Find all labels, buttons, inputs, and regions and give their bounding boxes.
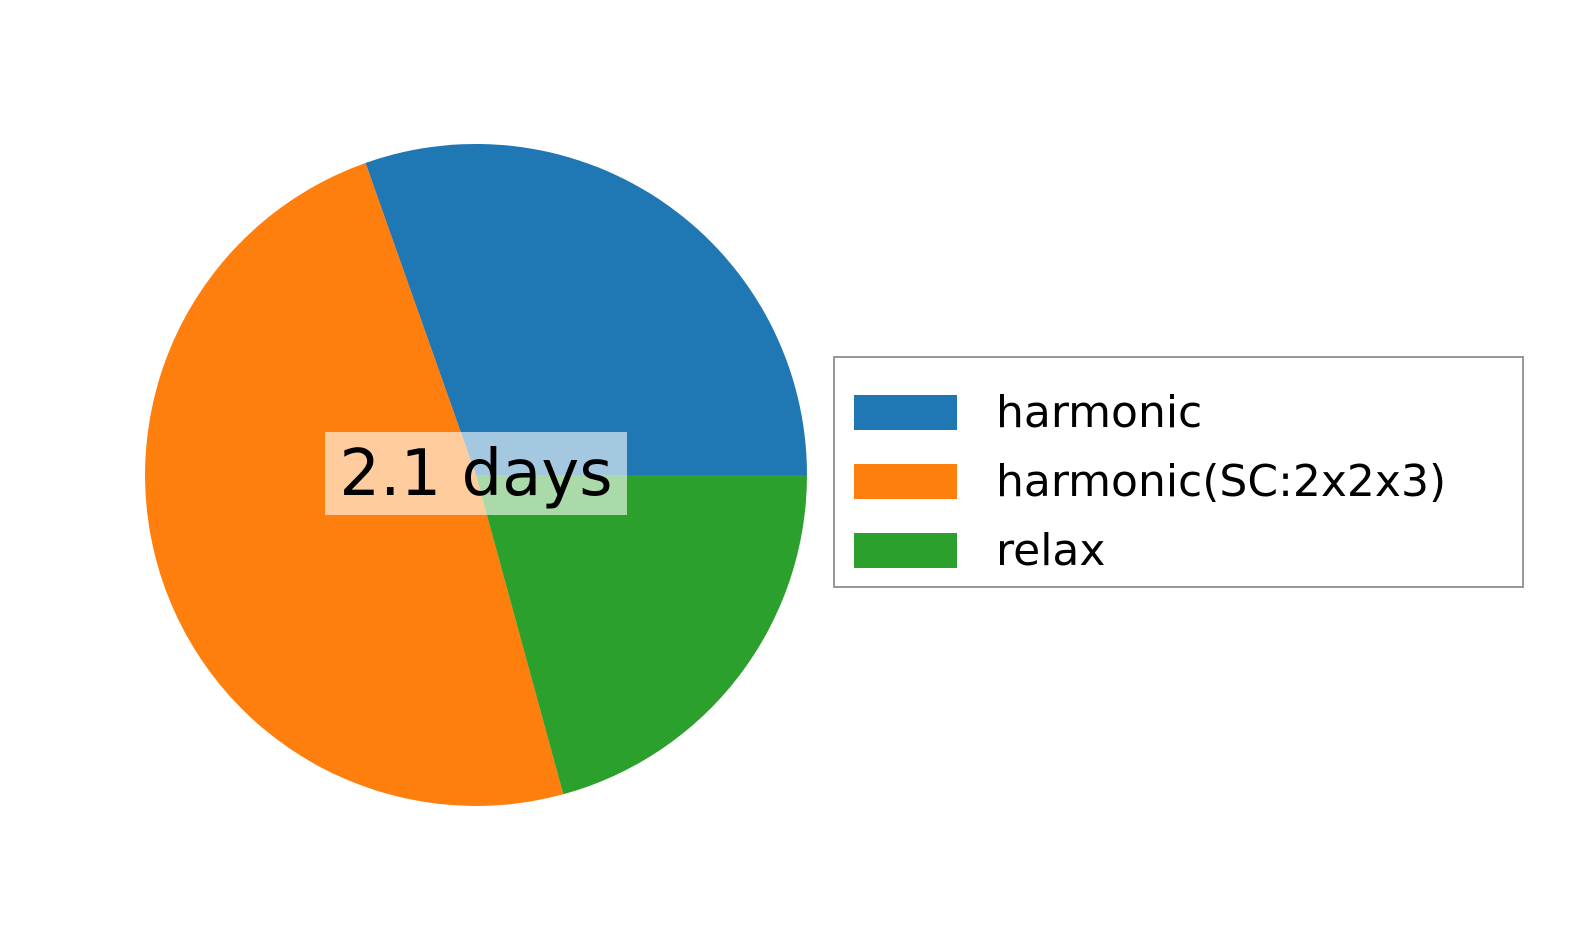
legend-label-harmonic-sc: harmonic(SC:2x2x3) bbox=[996, 460, 1446, 504]
legend-label-harmonic: harmonic bbox=[996, 391, 1202, 435]
pie-center-label: 2.1 days bbox=[325, 432, 627, 515]
legend-label-relax: relax bbox=[996, 529, 1105, 573]
legend-item-relax[interactable]: relax bbox=[854, 516, 1522, 585]
pie-chart-figure: 2.1 days harmonic harmonic(SC:2x2x3) rel… bbox=[0, 0, 1584, 951]
legend-swatch-relax bbox=[854, 533, 957, 568]
legend-item-harmonic[interactable]: harmonic bbox=[854, 378, 1522, 447]
chart-legend: harmonic harmonic(SC:2x2x3) relax bbox=[833, 356, 1524, 588]
legend-item-harmonic-sc[interactable]: harmonic(SC:2x2x3) bbox=[854, 447, 1522, 516]
legend-swatch-harmonic bbox=[854, 395, 957, 430]
legend-swatch-harmonic-sc bbox=[854, 464, 957, 499]
pie-center-label-text: 2.1 days bbox=[339, 442, 612, 506]
